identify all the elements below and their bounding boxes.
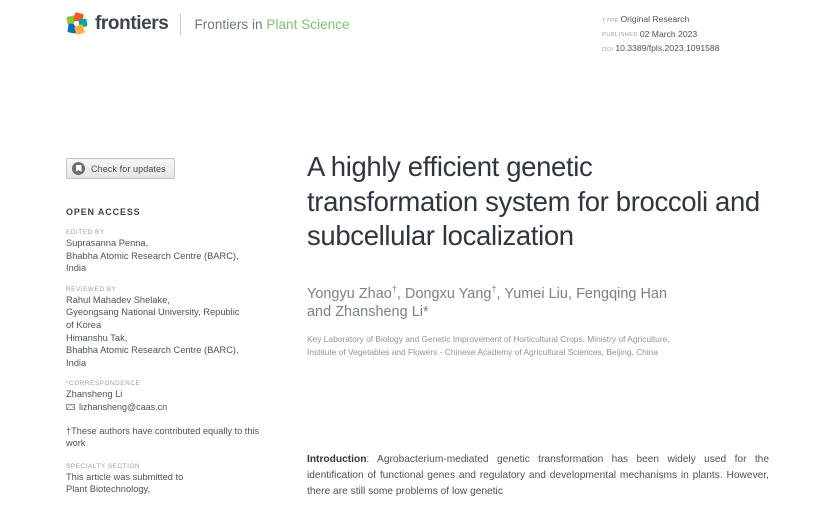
meta-doi-label: DOI bbox=[602, 47, 613, 53]
specialty-section-value: This article was submitted to Plant Biot… bbox=[66, 471, 266, 496]
specialty-section-label: SPECIALTY SECTION bbox=[66, 463, 266, 470]
author-1: Yongyu Zhao bbox=[307, 285, 392, 301]
meta-published-label: PUBLISHED bbox=[602, 32, 638, 38]
correspondence-name: Zhansheng Li bbox=[66, 388, 266, 401]
edited-by-value: Suprasanna Penna, Bhabha Atomic Research… bbox=[66, 237, 266, 275]
meta-type-value: Original Research bbox=[620, 14, 689, 24]
correspondence-email[interactable]: lizhansheng@caas.cn bbox=[79, 401, 167, 414]
frontiers-pinwheel-logo-icon[interactable] bbox=[66, 13, 88, 35]
meta-doi-value[interactable]: 10.3389/fpls.2023.1091588 bbox=[615, 43, 719, 53]
crossmark-icon bbox=[72, 162, 85, 175]
journal-prefix: Frontiers in bbox=[194, 17, 266, 32]
author-2: , Dongxu Yang bbox=[397, 285, 492, 301]
edited-by-label: EDITED BY bbox=[66, 229, 266, 236]
masthead-divider bbox=[180, 14, 181, 35]
reviewed-by-value: Rahul Mahadev Shelake, Gyeongsang Nation… bbox=[66, 294, 266, 370]
envelope-icon bbox=[66, 404, 75, 411]
meta-type-row: TYPEOriginal Research bbox=[602, 13, 772, 28]
equal-contribution-note: †These authors have contributed equally … bbox=[66, 425, 266, 450]
meta-published-row: PUBLISHED02 March 2023 bbox=[602, 28, 772, 43]
abstract-introduction: Introduction: Agrobacterium-mediated gen… bbox=[307, 452, 769, 500]
affiliations: Key Laboratory of Biology and Genetic Im… bbox=[307, 333, 769, 358]
abstract-body: : Agrobacterium-mediated genetic transfo… bbox=[307, 454, 769, 497]
article-metadata: TYPEOriginal Research PUBLISHED02 March … bbox=[602, 13, 772, 57]
authors-line-2: and Zhansheng Li* bbox=[307, 304, 429, 320]
meta-published-value: 02 March 2023 bbox=[640, 29, 697, 39]
article-header: A highly efficient genetic transformatio… bbox=[307, 150, 769, 358]
frontiers-wordmark[interactable]: frontiers bbox=[95, 13, 168, 35]
journal-accent: Plant Science bbox=[266, 17, 349, 32]
masthead: frontiers Frontiers in Plant Science bbox=[66, 10, 350, 38]
sidebar: Check for updates OPEN ACCESS EDITED BY … bbox=[66, 158, 266, 507]
page-title: A highly efficient genetic transformatio… bbox=[307, 150, 769, 254]
meta-doi-row[interactable]: DOI10.3389/fpls.2023.1091588 bbox=[602, 42, 772, 57]
abstract-heading: Introduction bbox=[307, 454, 366, 465]
correspondence-email-row[interactable]: lizhansheng@caas.cn bbox=[66, 401, 266, 414]
correspondence-label: *CORRESPONDENCE bbox=[66, 380, 266, 387]
open-access-badge: OPEN ACCESS bbox=[66, 207, 266, 217]
article-page: frontiers Frontiers in Plant Science TYP… bbox=[0, 0, 827, 503]
meta-type-label: TYPE bbox=[602, 18, 618, 24]
journal-name[interactable]: Frontiers in Plant Science bbox=[194, 17, 349, 32]
check-for-updates-button[interactable]: Check for updates bbox=[66, 158, 175, 179]
check-for-updates-label: Check for updates bbox=[91, 164, 166, 174]
authors-rest: , Yumei Liu, Fengqing Han bbox=[497, 285, 668, 301]
reviewed-by-label: REVIEWED BY bbox=[66, 286, 266, 293]
author-list: Yongyu Zhao†, Dongxu Yang†, Yumei Liu, F… bbox=[307, 280, 769, 323]
